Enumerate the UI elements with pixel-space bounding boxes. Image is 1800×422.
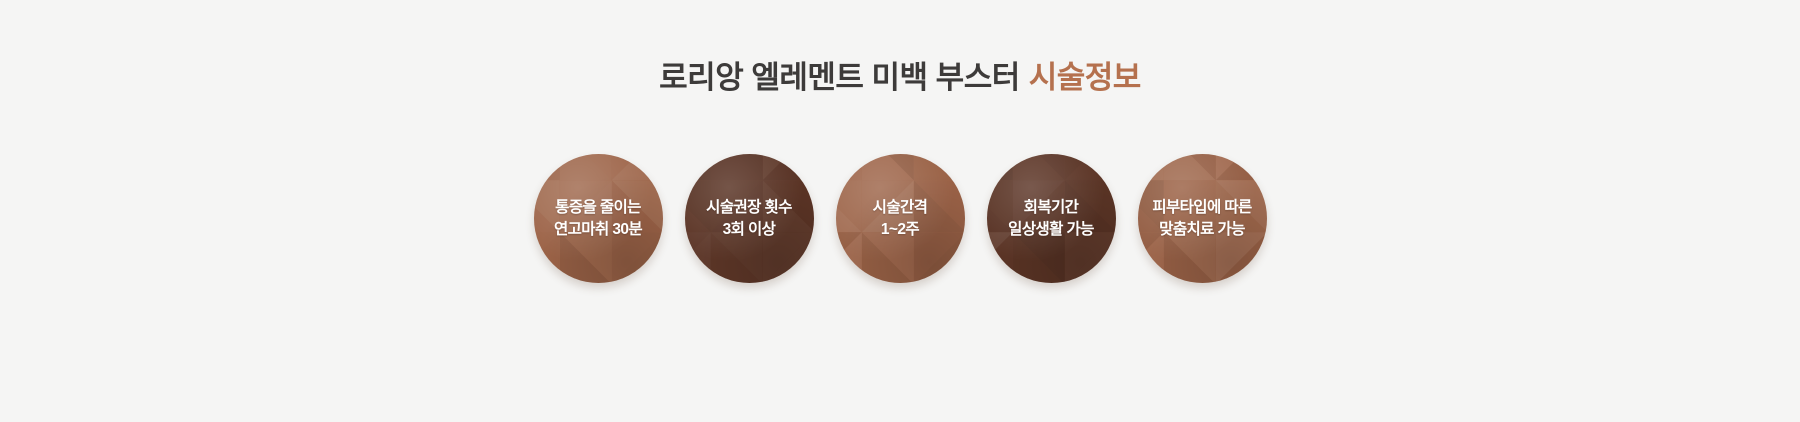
procedure-info-banner: 로리앙 엘레멘트 미백 부스터시술정보 통증을 줄이는연고마취 30분시술권장 … [0,0,1800,422]
info-badge-label: 통증을 줄이는연고마취 30분 [550,197,646,241]
info-badge-treatment-interval: 시술간격1~2주 [836,154,965,283]
info-badge-recommended-sessions: 시술권장 횟수3회 이상 [685,154,814,283]
info-badge-label: 시술권장 횟수3회 이상 [702,197,796,241]
info-badge-line1: 시술권장 횟수 [706,197,792,219]
info-badge-line1: 시술간격 [873,197,928,219]
page-title-main: 로리앙 엘레멘트 미백 부스터 [659,60,1020,95]
info-badge-line2: 일상생활 가능 [1008,219,1094,241]
info-badge-line2: 맞춤치료 가능 [1152,219,1251,241]
info-badge-label: 피부타입에 따른맞춤치료 가능 [1148,197,1255,241]
info-badge-recovery-period: 회복기간일상생활 가능 [987,154,1116,283]
info-badge-line2: 연고마취 30분 [554,219,642,241]
info-badge-anesthesia: 통증을 줄이는연고마취 30분 [534,154,663,283]
page-title: 로리앙 엘레멘트 미백 부스터시술정보 [0,62,1800,93]
info-badge-line2: 1~2주 [873,219,928,241]
info-badge-line2: 3회 이상 [706,219,792,241]
info-badge-line1: 피부타입에 따른 [1152,197,1251,219]
info-badge-line1: 회복기간 [1008,197,1094,219]
page-title-accent: 시술정보 [1029,60,1141,95]
info-badge-label: 시술간격1~2주 [869,197,932,241]
info-badge-row: 통증을 줄이는연고마취 30분시술권장 횟수3회 이상시술간격1~2주회복기간일… [0,154,1800,304]
info-badge-line1: 통증을 줄이는 [554,197,642,219]
info-badge-skin-type-custom: 피부타입에 따른맞춤치료 가능 [1138,154,1267,283]
info-badge-label: 회복기간일상생활 가능 [1004,197,1098,241]
